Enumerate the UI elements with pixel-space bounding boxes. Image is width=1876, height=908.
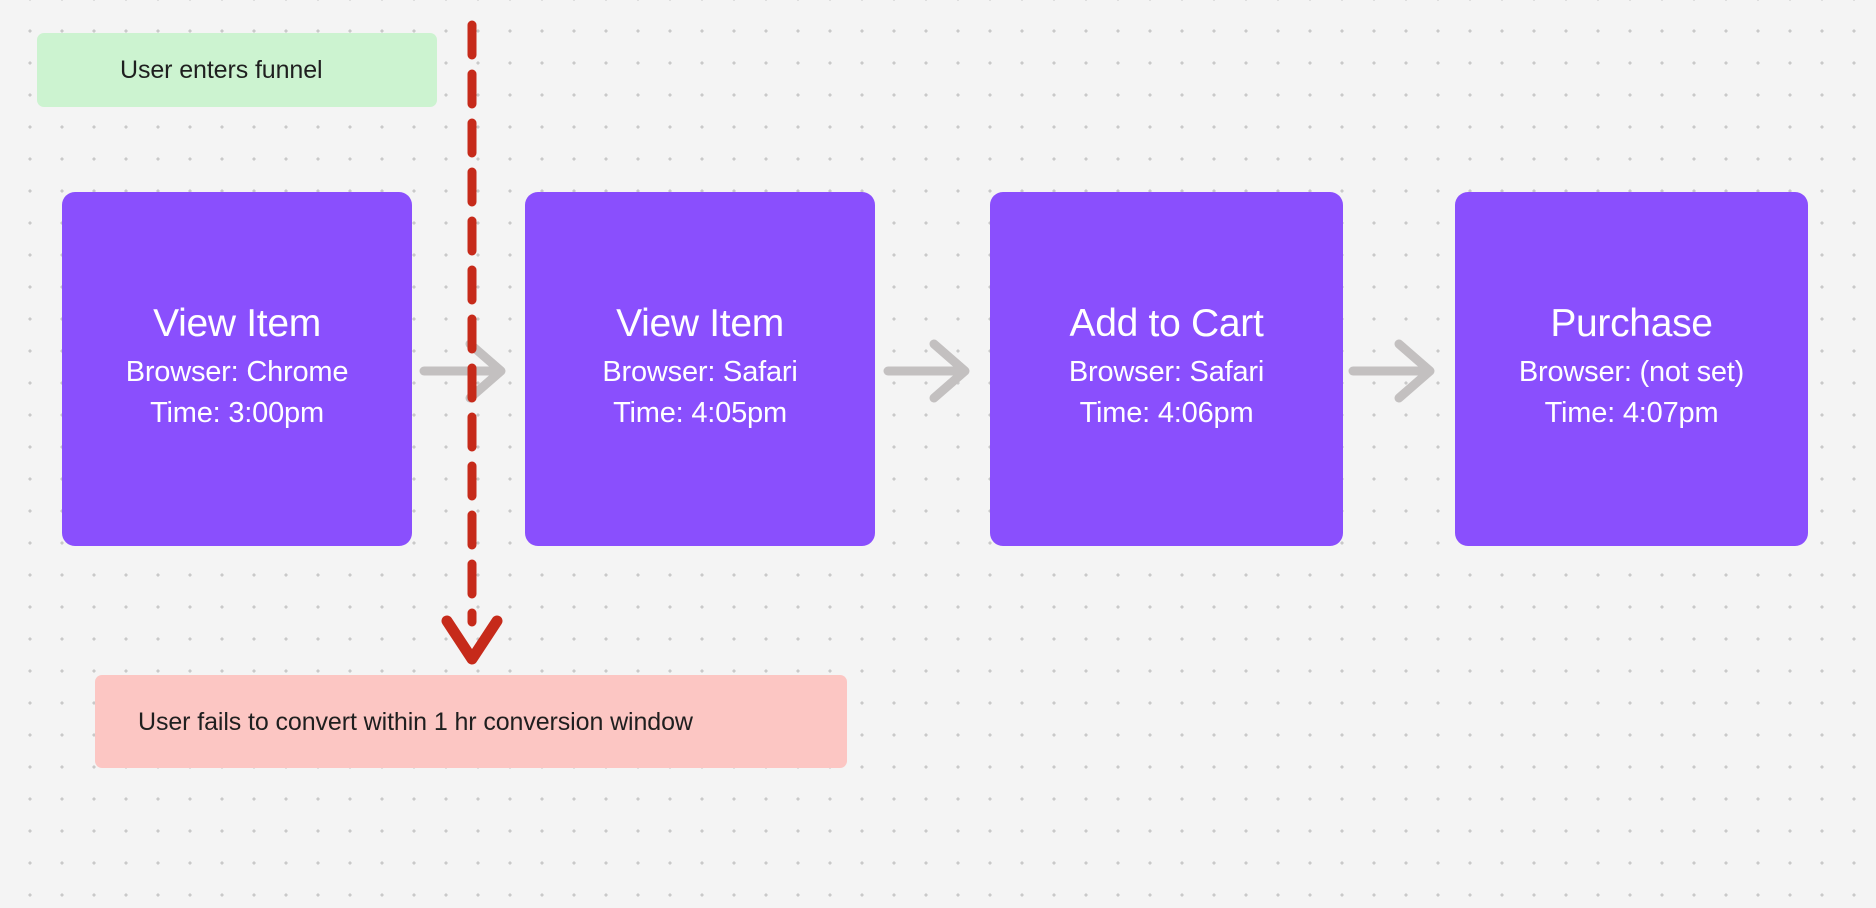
funnel-step-browser: Browser: Safari xyxy=(602,352,797,393)
funnel-step-title: View Item xyxy=(153,304,321,345)
entry-annotation-box: User enters funnel xyxy=(37,33,437,107)
funnel-step-title: Add to Cart xyxy=(1070,304,1264,345)
entry-annotation-label: User enters funnel xyxy=(120,55,322,85)
funnel-step-browser: Browser: (not set) xyxy=(1519,352,1744,393)
funnel-step-title: Purchase xyxy=(1550,304,1712,345)
funnel-step-node-1[interactable]: View Item Browser: Chrome Time: 3:00pm xyxy=(62,192,412,546)
funnel-step-list: View Item Browser: Chrome Time: 3:00pm V… xyxy=(0,192,1876,546)
funnel-step-browser: Browser: Chrome xyxy=(126,352,349,393)
funnel-step-time: Time: 3:00pm xyxy=(150,393,324,434)
funnel-step-node-3[interactable]: Add to Cart Browser: Safari Time: 4:06pm xyxy=(990,192,1343,546)
funnel-step-title: View Item xyxy=(616,304,784,345)
funnel-step-time: Time: 4:06pm xyxy=(1080,393,1254,434)
failure-annotation-box: User fails to convert within 1 hr conver… xyxy=(95,675,847,768)
funnel-step-time: Time: 4:07pm xyxy=(1545,393,1719,434)
funnel-step-node-2[interactable]: View Item Browser: Safari Time: 4:05pm xyxy=(525,192,875,546)
funnel-step-browser: Browser: Safari xyxy=(1069,352,1264,393)
diagram-canvas: View Item Browser: Chrome Time: 3:00pm V… xyxy=(0,0,1876,908)
failure-annotation-label: User fails to convert within 1 hr conver… xyxy=(138,707,693,737)
funnel-step-node-4[interactable]: Purchase Browser: (not set) Time: 4:07pm xyxy=(1455,192,1808,546)
funnel-step-time: Time: 4:05pm xyxy=(613,393,787,434)
